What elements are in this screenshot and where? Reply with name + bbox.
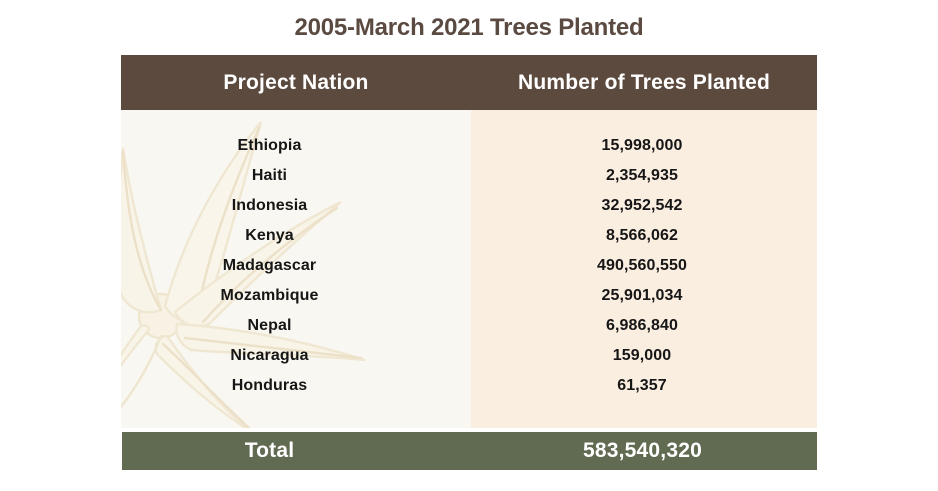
table-row: 159,000 [471,341,817,371]
total-label: Total [122,432,472,470]
column-header-project-nation: Project Nation [121,55,471,110]
table-row: Honduras [121,371,471,401]
table-row: 8,566,062 [471,221,817,251]
total-value: 583,540,320 [472,432,817,470]
table-row: 490,560,550 [471,251,817,281]
column-project-nation: Ethiopia Haiti Indonesia Kenya Madagasca… [121,110,471,428]
table-row: Indonesia [121,191,471,221]
column-header-number-of-trees: Number of Trees Planted [471,55,817,110]
trees-planted-table: Project Nation Number of Trees Planted [121,55,817,470]
table-row: 15,998,000 [471,131,817,161]
table-row: Nicaragua [121,341,471,371]
table-row: Haiti [121,161,471,191]
table-row: Madagascar [121,251,471,281]
table-row: Mozambique [121,281,471,311]
column-number-of-trees: 15,998,000 2,354,935 32,952,542 8,566,06… [471,110,817,428]
infographic-table-page: 2005-March 2021 Trees Planted Project Na… [0,0,938,491]
nation-cells: Ethiopia Haiti Indonesia Kenya Madagasca… [121,110,471,428]
table-body: Ethiopia Haiti Indonesia Kenya Madagasca… [121,110,817,428]
table-row: Ethiopia [121,131,471,161]
table-header-row: Project Nation Number of Trees Planted [121,55,817,110]
table-total-row: Total 583,540,320 [122,432,817,470]
page-title: 2005-March 2021 Trees Planted [0,14,938,42]
table-row: Kenya [121,221,471,251]
table-row: 32,952,542 [471,191,817,221]
trees-cells: 15,998,000 2,354,935 32,952,542 8,566,06… [471,110,817,428]
table-row: Nepal [121,311,471,341]
table-row: 25,901,034 [471,281,817,311]
table-row: 61,357 [471,371,817,401]
table-row: 2,354,935 [471,161,817,191]
table-row: 6,986,840 [471,311,817,341]
